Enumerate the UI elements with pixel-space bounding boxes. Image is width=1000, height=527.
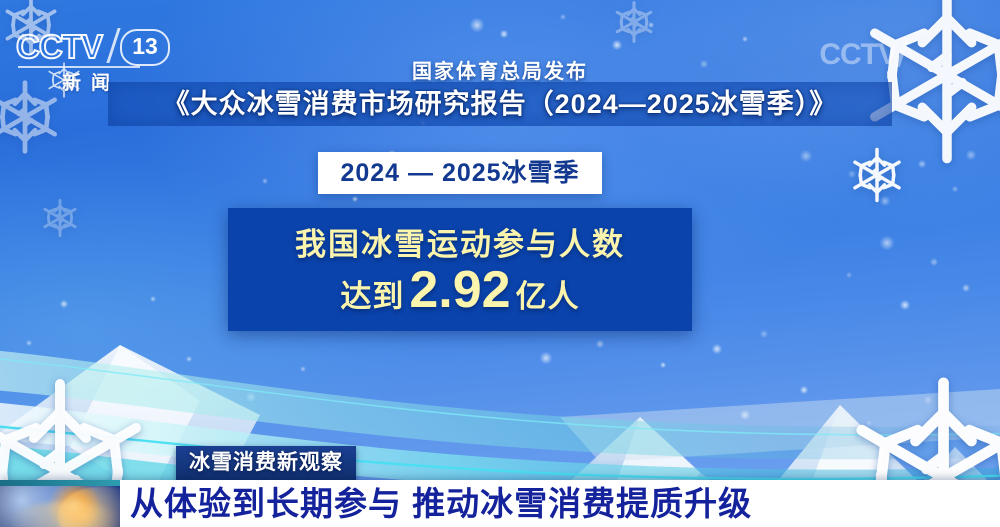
bokeh-dot xyxy=(300,366,306,372)
bokeh-dot xyxy=(800,386,808,394)
bokeh-dot xyxy=(186,356,192,362)
bokeh-dot xyxy=(712,344,722,354)
ticker-cap-bar xyxy=(0,480,120,486)
bokeh-dot xyxy=(352,196,358,202)
bokeh-dot xyxy=(648,22,654,28)
stat-value: 2.92 xyxy=(409,264,510,316)
bokeh-dot xyxy=(120,372,128,380)
bokeh-dot xyxy=(900,300,910,310)
bokeh-dot xyxy=(760,330,768,338)
report-title: 《大众冰雪消费市场研究报告（2024—2025冰雪季）》 xyxy=(108,82,892,126)
news-headline: 从体验到长期参与 推动冰雪消费提质升级 xyxy=(130,480,752,527)
stat-headline: 我国冰雪运动参与人数 xyxy=(228,219,692,264)
bokeh-dot xyxy=(500,30,508,38)
snowflake-icon xyxy=(848,146,906,209)
bokeh-dot xyxy=(26,340,32,346)
bokeh-dot xyxy=(470,18,484,32)
bokeh-dot xyxy=(740,410,750,420)
bokeh-dot xyxy=(246,392,256,402)
bokeh-dot xyxy=(924,396,932,404)
snowflake-icon xyxy=(612,0,656,49)
bokeh-dot xyxy=(60,300,68,308)
bokeh-dot xyxy=(262,178,268,184)
bokeh-dot xyxy=(560,14,566,20)
broadcast-frame: CCTV 13 新闻 CCTV 国家体育总局发布 《大众冰雪消费市场研究报告（2… xyxy=(0,0,1000,527)
bokeh-dot xyxy=(742,36,748,42)
topic-tag-label: 冰雪消费新观察 xyxy=(176,446,356,480)
snowflake-icon xyxy=(40,198,80,243)
bokeh-dot xyxy=(880,196,890,206)
stat-value-row: 达到 2.92 亿人 xyxy=(228,264,692,316)
bokeh-dot xyxy=(800,150,812,162)
bokeh-dot xyxy=(596,340,604,348)
bokeh-dot xyxy=(866,420,872,426)
stat-unit: 亿人 xyxy=(516,271,580,316)
bokeh-dot xyxy=(612,40,622,50)
bokeh-dot xyxy=(918,160,926,168)
globe-icon xyxy=(0,480,120,527)
bokeh-dot xyxy=(966,150,976,160)
news-ticker-bar: 从体验到长期参与 推动冰雪消费提质升级 xyxy=(0,480,1000,527)
bokeh-dot xyxy=(848,170,856,178)
bokeh-dot xyxy=(540,352,552,364)
bokeh-dot xyxy=(962,284,970,292)
bokeh-dot xyxy=(880,236,894,250)
kicker-line: 国家体育总局发布 xyxy=(0,55,1000,84)
season-badge-label: 2024 — 2025冰雪季 xyxy=(318,152,602,194)
bokeh-dot xyxy=(952,186,958,192)
bokeh-dot xyxy=(846,272,852,278)
bokeh-dot xyxy=(660,362,666,368)
bokeh-dot xyxy=(930,258,938,266)
bokeh-dot xyxy=(150,296,156,302)
stat-prefix: 达到 xyxy=(340,271,404,316)
